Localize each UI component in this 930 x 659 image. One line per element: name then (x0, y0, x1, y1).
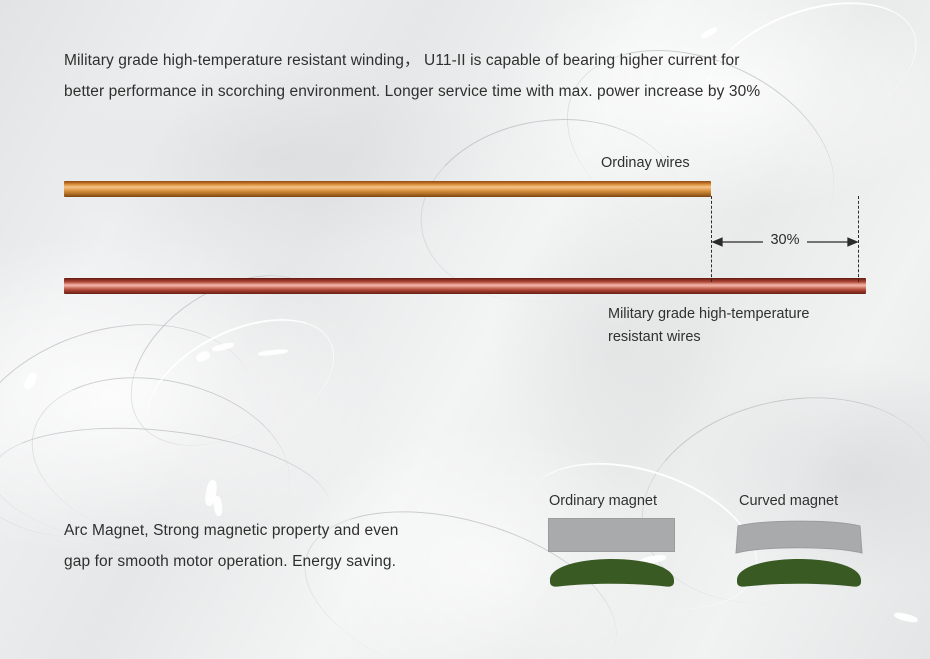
ordinary-magnet-figure (548, 518, 676, 588)
curved-magnet-figure (735, 518, 863, 588)
military-wire-bar (64, 278, 866, 294)
ordinary-magnet-rotor-arc (548, 518, 676, 588)
infographic-canvas: Military grade high-temperature resistan… (0, 0, 930, 659)
intro-line-1: Military grade high-temperature resistan… (64, 45, 760, 76)
curved-magnet-label: Curved magnet (739, 490, 838, 513)
military-wires-label-line-1: Military grade high-temperature (608, 303, 809, 326)
arc-magnet-line-1: Arc Magnet, Strong magnetic property and… (64, 515, 399, 546)
intro-line-2: better performance in scorching environm… (64, 76, 760, 107)
arc-magnet-line-2: gap for smooth motor operation. Energy s… (64, 546, 399, 577)
military-wires-label: Military grade high-temperature resistan… (608, 303, 809, 349)
ordinary-wire-bar (64, 181, 711, 197)
intro-paragraph: Military grade high-temperature resistan… (64, 45, 760, 107)
measurement-percent-label: 30% (711, 232, 859, 248)
military-wires-label-line-2: resistant wires (608, 326, 809, 349)
ordinary-wires-label: Ordinay wires (601, 152, 690, 175)
ordinary-magnet-label: Ordinary magnet (549, 490, 657, 513)
arc-magnet-paragraph: Arc Magnet, Strong magnetic property and… (64, 515, 399, 577)
curved-magnet-rotor-arc (735, 518, 863, 588)
